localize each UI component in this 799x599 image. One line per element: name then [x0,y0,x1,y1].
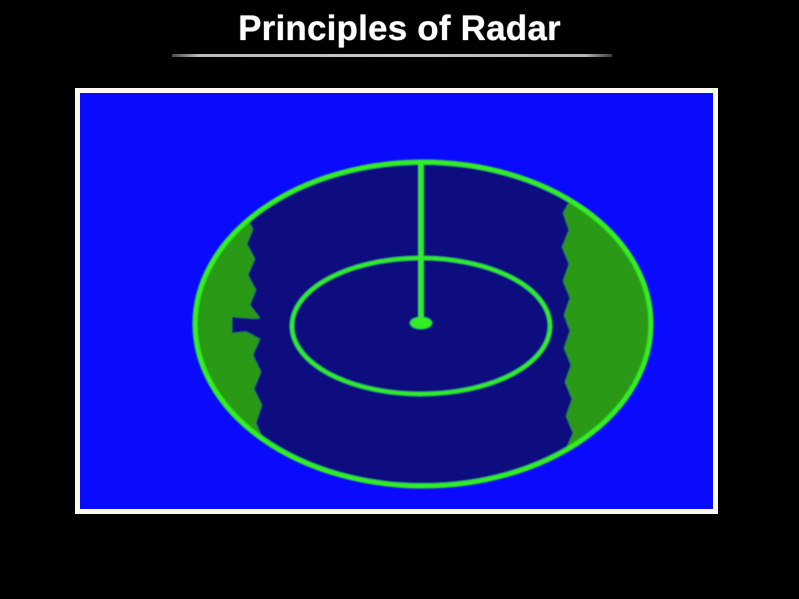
slide-canvas: Principles of Radar [0,0,799,599]
title-underline-rule [172,54,612,57]
antenna-origin-blip [410,317,432,329]
page-title: Principles of Radar [238,8,561,50]
title-block: Principles of Radar [0,8,799,50]
radar-image-frame [75,88,718,514]
ppi-radar-scope [80,93,713,509]
